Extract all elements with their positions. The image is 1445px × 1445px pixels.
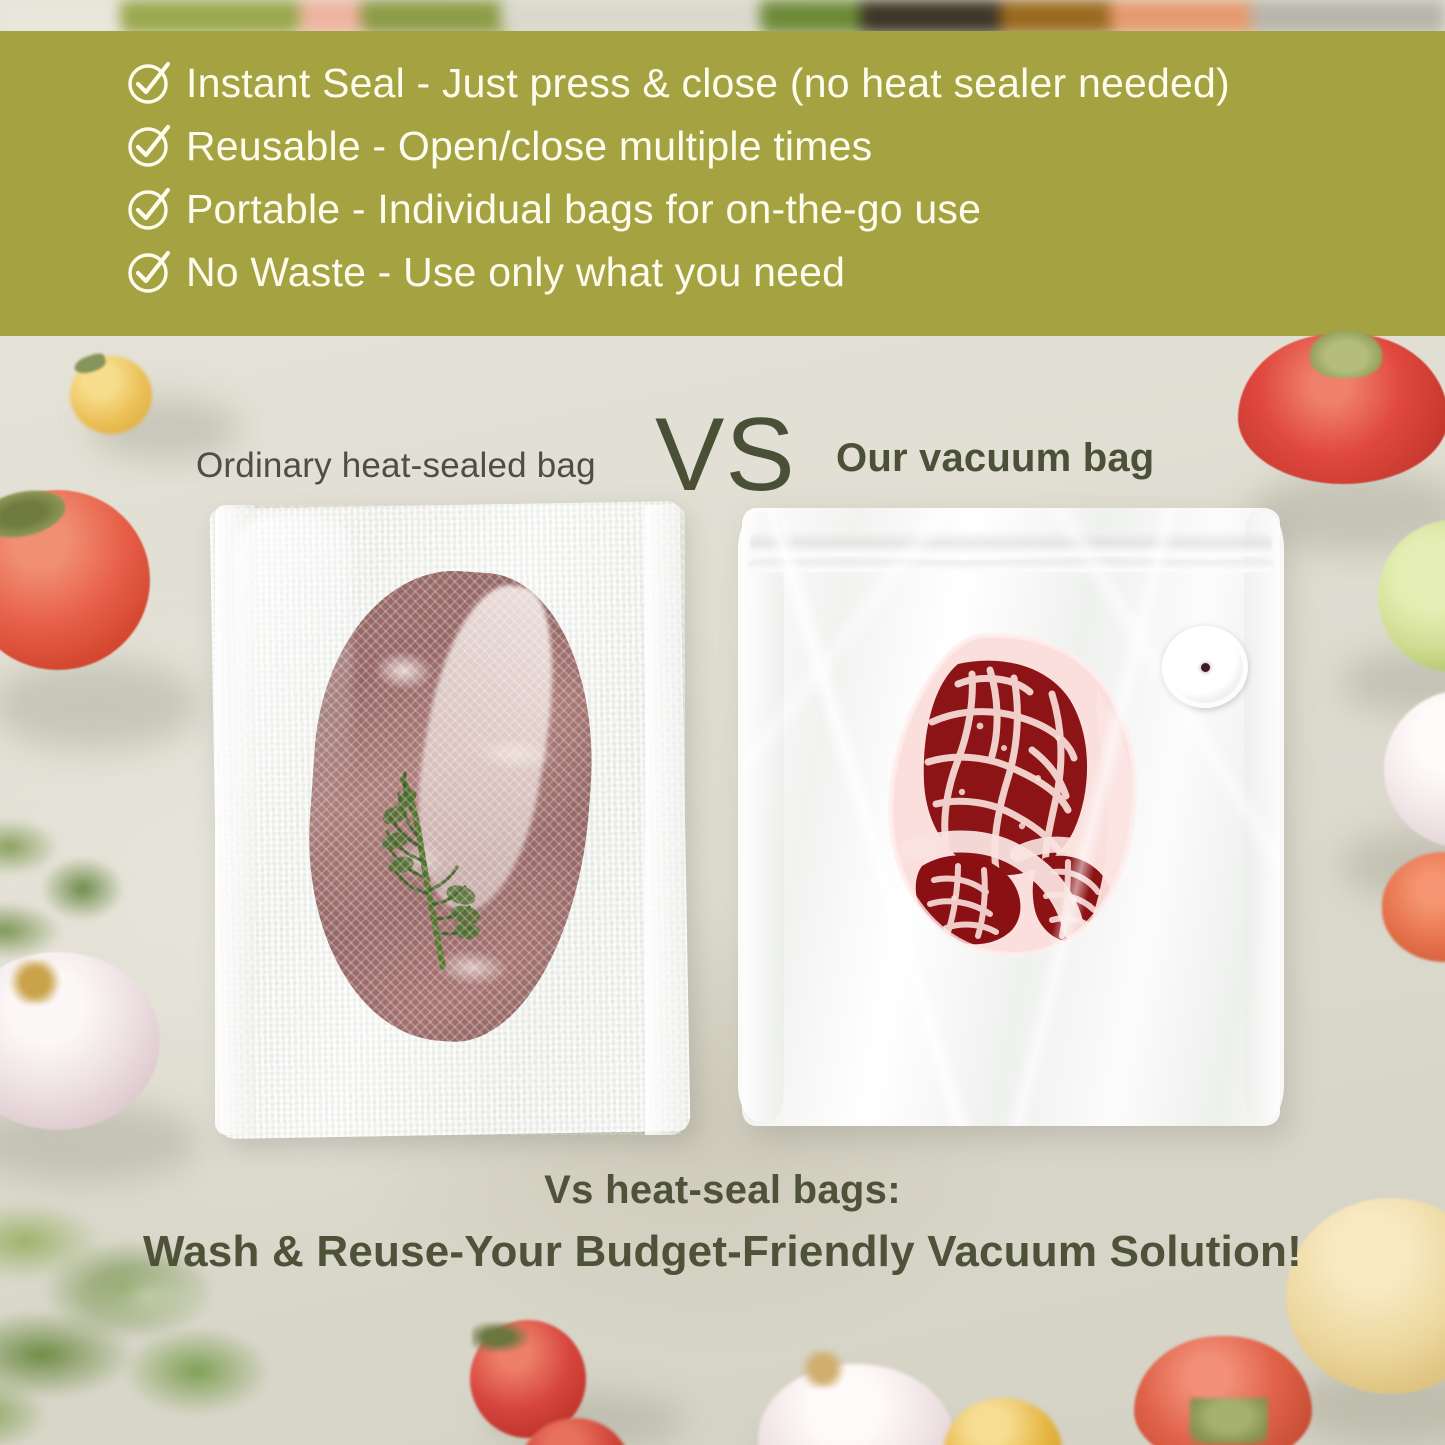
red-bell-pepper-stem [1310, 330, 1382, 378]
feature-bullet-text: No Waste - Use only what you need [186, 249, 845, 295]
bottom-caption: Vs heat-seal bags: Wash & Reuse-Your Bud… [0, 1168, 1445, 1277]
vacuum-bag-zipper-secondary [748, 560, 1274, 572]
feature-bullet: Portable - Individual bags for on-the-go… [126, 179, 1386, 239]
ordinary-bag-label: Ordinary heat-sealed bag [196, 446, 596, 486]
caption-line-1: Vs heat-seal bags: [0, 1168, 1445, 1213]
feature-bullet: Instant Seal - Just press & close (no he… [126, 53, 1386, 113]
check-circle-icon [126, 186, 172, 232]
comparison-header: Ordinary heat-sealed bag VS Our vacuum b… [0, 420, 1445, 500]
feature-bullet-text: Reusable - Open/close multiple times [186, 123, 872, 169]
feature-bullet-text: Portable - Individual bags for on-the-go… [186, 186, 981, 232]
garlic-bottom-tip [800, 1350, 846, 1388]
tomato-bottom-stem [472, 1322, 528, 1352]
feature-bullet: No Waste - Use only what you need [126, 242, 1386, 302]
vacuum-bag-right-edge [1244, 512, 1284, 1122]
feature-bullet-list: Instant Seal - Just press & close (no he… [126, 53, 1386, 305]
check-circle-icon [126, 123, 172, 169]
vacuum-bag-left-edge [738, 512, 784, 1122]
ordinary-bag-right-seal [645, 505, 685, 1135]
herb-sprig [365, 735, 515, 975]
top-produce-strip [0, 0, 1445, 34]
parsley-bunch-left [0, 790, 170, 980]
product-infographic: Instant Seal - Just press & close (no he… [0, 0, 1445, 1445]
vacuum-bag-zipper [750, 530, 1272, 556]
vacuum-valve-hole [1201, 663, 1210, 672]
feature-banner: Instant Seal - Just press & close (no he… [0, 31, 1445, 336]
red-pepper-bottom-stem [1190, 1398, 1268, 1444]
vacuum-bag-ribeye-steak [862, 630, 1162, 960]
check-circle-icon [126, 60, 172, 106]
ordinary-bag-gloss [233, 515, 353, 1115]
feature-bullet: Reusable - Open/close multiple times [126, 116, 1386, 176]
vacuum-valve-icon [1162, 626, 1248, 708]
check-circle-icon [126, 249, 172, 295]
feature-bullet-text: Instant Seal - Just press & close (no he… [186, 60, 1230, 106]
our-bag-label: Our vacuum bag [836, 436, 1154, 481]
ordinary-heat-sealed-bag [215, 505, 685, 1135]
caption-line-2: Wash & Reuse-Your Budget-Friendly Vacuum… [0, 1227, 1445, 1277]
our-vacuum-bag [742, 508, 1280, 1126]
vs-label: VS [655, 396, 796, 515]
